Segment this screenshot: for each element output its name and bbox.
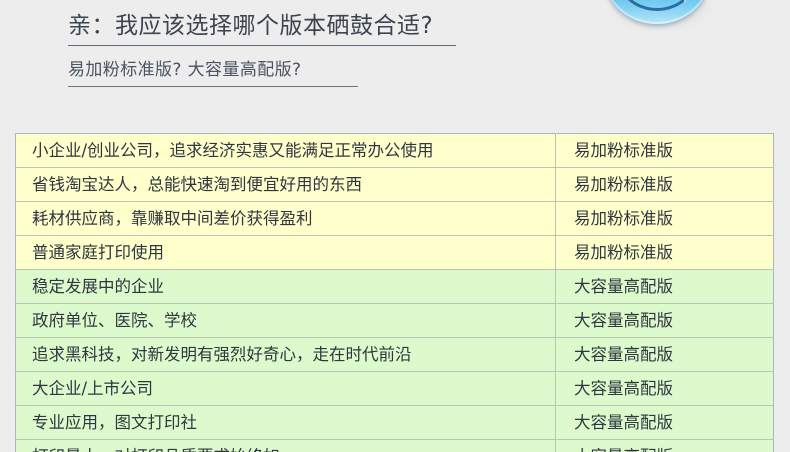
page-title: 亲：我应该选择哪个版本硒鼓合适? xyxy=(68,10,548,42)
table-row: 小企业/创业公司，追求经济实惠又能满足正常办公使用易加粉标准版 xyxy=(16,134,774,168)
table-row: 大企业/上市公司大容量高配版 xyxy=(16,372,774,406)
cell-recommended-version: 大容量高配版 xyxy=(556,406,774,440)
blue-glossy-circle-icon xyxy=(604,0,710,24)
cell-recommended-version: 大容量高配版 xyxy=(556,372,774,406)
table-row: 政府单位、医院、学校大容量高配版 xyxy=(16,304,774,338)
table-row: 省钱淘宝达人，总能快速淘到便宜好用的东西易加粉标准版 xyxy=(16,168,774,202)
cell-usage-scenario: 省钱淘宝达人，总能快速淘到便宜好用的东西 xyxy=(16,168,556,202)
cell-usage-scenario: 稳定发展中的企业 xyxy=(16,270,556,304)
cell-recommended-version: 大容量高配版 xyxy=(556,304,774,338)
product-info-page: 亲：我应该选择哪个版本硒鼓合适? 易加粉标准版? 大容量高配版? 小企业/创业公… xyxy=(0,0,790,452)
cell-recommended-version: 易加粉标准版 xyxy=(556,236,774,270)
version-comparison-table-wrapper: 小企业/创业公司，追求经济实惠又能满足正常办公使用易加粉标准版省钱淘宝达人，总能… xyxy=(15,133,773,452)
page-heading: 亲：我应该选择哪个版本硒鼓合适? 易加粉标准版? 大容量高配版? xyxy=(68,10,548,87)
version-comparison-table: 小企业/创业公司，追求经济实惠又能满足正常办公使用易加粉标准版省钱淘宝达人，总能… xyxy=(15,133,774,452)
table-row: 稳定发展中的企业大容量高配版 xyxy=(16,270,774,304)
table-body: 小企业/创业公司，追求经济实惠又能满足正常办公使用易加粉标准版省钱淘宝达人，总能… xyxy=(16,134,774,452)
heading-secondary-line: 易加粉标准版? 大容量高配版? xyxy=(68,58,548,87)
page-subtitle: 易加粉标准版? 大容量高配版? xyxy=(68,58,548,82)
cell-usage-scenario: 政府单位、医院、学校 xyxy=(16,304,556,338)
badge-inner-ring xyxy=(616,0,698,11)
cell-recommended-version: 大容量高配版 xyxy=(556,270,774,304)
table-row: 耗材供应商，靠赚取中间差价获得盈利易加粉标准版 xyxy=(16,202,774,236)
heading-primary-line: 亲：我应该选择哪个版本硒鼓合适? xyxy=(68,10,548,46)
cell-recommended-version: 易加粉标准版 xyxy=(556,168,774,202)
cell-usage-scenario: 耗材供应商，靠赚取中间差价获得盈利 xyxy=(16,202,556,236)
cell-usage-scenario: 打印量大，对打印品质要求始终如 xyxy=(16,440,556,452)
cell-recommended-version: 易加粉标准版 xyxy=(556,134,774,168)
blue-badge-decoration xyxy=(604,0,716,32)
table-row: 专业应用，图文打印社大容量高配版 xyxy=(16,406,774,440)
cell-recommended-version: 大容量高配版 xyxy=(556,338,774,372)
cell-usage-scenario: 小企业/创业公司，追求经济实惠又能满足正常办公使用 xyxy=(16,134,556,168)
table-row: 追求黑科技，对新发明有强烈好奇心，走在时代前沿大容量高配版 xyxy=(16,338,774,372)
badge-rim xyxy=(604,0,710,24)
heading-underline-primary xyxy=(68,45,456,46)
cell-usage-scenario: 追求黑科技，对新发明有强烈好奇心，走在时代前沿 xyxy=(16,338,556,372)
cell-recommended-version: 易加粉标准版 xyxy=(556,202,774,236)
table-row: 打印量大，对打印品质要求始终如大容量高配版 xyxy=(16,440,774,452)
cell-recommended-version: 大容量高配版 xyxy=(556,440,774,452)
cell-usage-scenario: 大企业/上市公司 xyxy=(16,372,556,406)
badge-shadow xyxy=(610,0,710,30)
cell-usage-scenario: 普通家庭打印使用 xyxy=(16,236,556,270)
cell-usage-scenario: 专业应用，图文打印社 xyxy=(16,406,556,440)
heading-underline-secondary xyxy=(68,86,358,87)
table-row: 普通家庭打印使用易加粉标准版 xyxy=(16,236,774,270)
badge-sparkle-icon xyxy=(684,0,686,2)
